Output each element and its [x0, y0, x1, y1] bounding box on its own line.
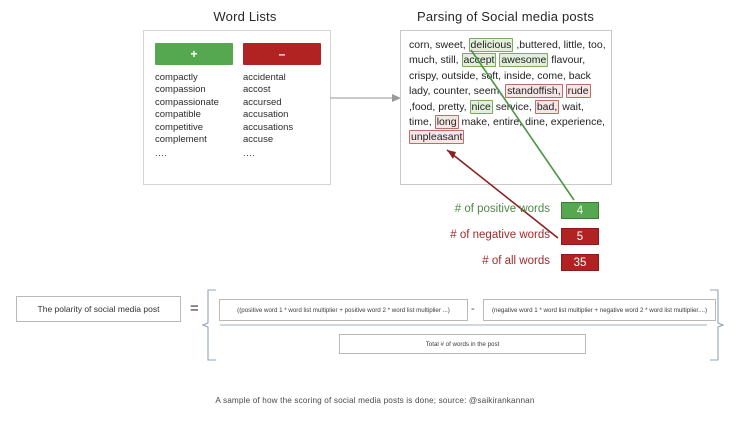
positive-word-column: + compactly compassion compassionate com… — [155, 43, 233, 162]
numerator-positive-term: ((positive word 1 * word list multiplier… — [219, 299, 468, 321]
positive-word-token: awesome — [499, 53, 548, 67]
list-item: compassion — [155, 84, 233, 96]
negative-word-column: – accidental accost accursed accusation … — [243, 43, 321, 162]
list-item: accusations — [243, 122, 321, 134]
negative-word-token: rude — [566, 84, 591, 98]
figure-caption: A sample of how the scoring of social me… — [0, 396, 750, 405]
negative-word-token: long — [435, 115, 459, 129]
plain-word-token: flavour, — [551, 54, 585, 66]
list-item: accursed — [243, 97, 321, 109]
positive-word-token: nice — [470, 100, 493, 114]
list-item: accidental — [243, 72, 321, 84]
negative-list-header: – — [243, 43, 321, 65]
plain-word-token: counter, — [433, 85, 470, 97]
list-item: accost — [243, 84, 321, 96]
positive-word-token: accept — [462, 53, 497, 67]
plain-word-token: lady, — [409, 85, 430, 97]
negative-word-token: bad, — [535, 100, 559, 114]
list-item: competitive — [155, 122, 233, 134]
plain-word-token: service, — [496, 101, 532, 113]
word-lists-panel: + compactly compassion compassionate com… — [143, 30, 331, 185]
plain-word-token: make, — [461, 116, 490, 128]
parsed-post-text: corn, sweet, delicious ,buttered, little… — [409, 38, 609, 146]
negative-list-ellipsis: .... — [243, 146, 321, 162]
plain-word-token: seem, — [474, 85, 503, 97]
list-item: accusation — [243, 109, 321, 121]
negative-count-label: # of negative words — [390, 229, 550, 241]
list-item: compatible — [155, 109, 233, 121]
plain-word-token: buttered, — [519, 39, 560, 51]
parsing-title: Parsing of Social media posts — [398, 9, 613, 24]
plain-word-token: experience, — [551, 116, 605, 128]
list-item: accuse — [243, 134, 321, 146]
plain-word-token: dine, — [525, 116, 548, 128]
positive-word-token: delicious — [469, 38, 514, 52]
denominator-term: Total # of words in the post — [339, 334, 586, 354]
plain-word-token: inside, — [504, 70, 534, 82]
word-lists-title: Word Lists — [140, 9, 350, 24]
plain-word-token: too, — [588, 39, 606, 51]
plain-word-token: soft, — [481, 70, 501, 82]
numerator-negative-term: (negative word 1 * word list multiplier … — [483, 299, 716, 321]
plain-word-token: back — [569, 70, 591, 82]
negative-count-value: 5 — [561, 228, 599, 245]
plain-word-token: outside, — [441, 70, 478, 82]
all-words-count-value: 35 — [561, 254, 599, 271]
plain-word-token: food, — [412, 101, 435, 113]
positive-list-ellipsis: .... — [155, 146, 233, 162]
list-item: complement — [155, 134, 233, 146]
polarity-label-box: The polarity of social media post — [16, 296, 181, 322]
flow-arrow-icon — [330, 92, 402, 104]
list-item: compassionate — [155, 97, 233, 109]
negative-word-token: standoffish, — [505, 84, 563, 98]
negative-word-items: accidental accost accursed accusation ac… — [243, 72, 321, 162]
positive-count-label: # of positive words — [390, 203, 550, 215]
plain-word-token: still, — [441, 54, 459, 66]
plain-word-token: little, — [564, 39, 586, 51]
all-words-count-label: # of all words — [390, 255, 550, 267]
negative-word-token: unpleasant — [409, 130, 464, 144]
plain-word-token: entire, — [493, 116, 522, 128]
plain-word-token: wait, — [562, 101, 584, 113]
equals-sign: = — [190, 300, 198, 317]
positive-count-value: 4 — [561, 202, 599, 219]
plain-word-token: crispy, — [409, 70, 439, 82]
plain-word-token: much, — [409, 54, 438, 66]
plain-word-token: corn, — [409, 39, 432, 51]
parsing-panel: corn, sweet, delicious ,buttered, little… — [400, 30, 612, 185]
plain-word-token: sweet, — [435, 39, 465, 51]
list-item: compactly — [155, 72, 233, 84]
plain-word-token: pretty, — [438, 101, 466, 113]
plain-word-token: come, — [537, 70, 566, 82]
plain-word-token: time, — [409, 116, 432, 128]
minus-sign: - — [471, 303, 475, 315]
positive-list-header: + — [155, 43, 233, 65]
positive-word-items: compactly compassion compassionate compa… — [155, 72, 233, 162]
